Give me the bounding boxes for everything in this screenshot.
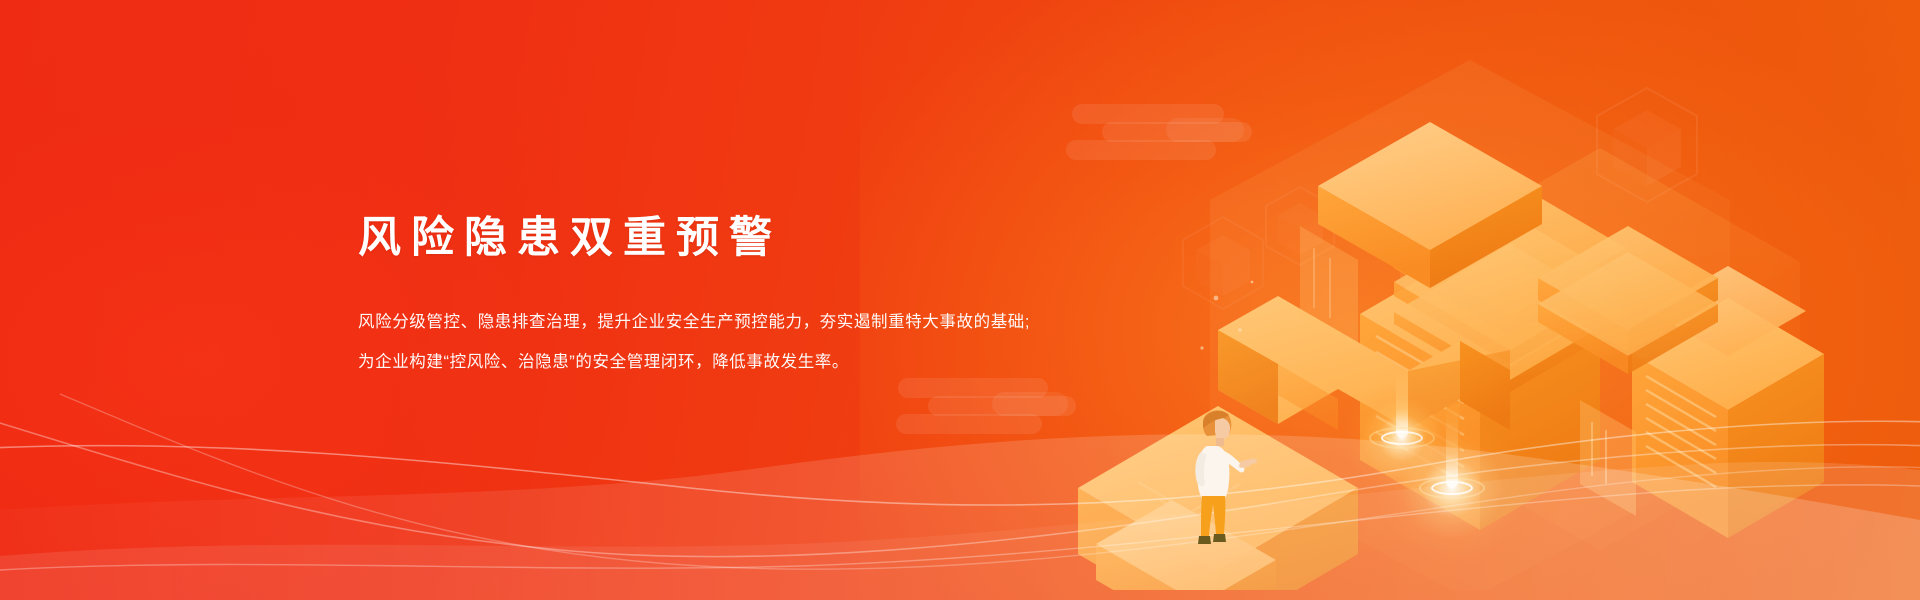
person-shoe-left [1198,536,1211,544]
banner-subtitle: 风险分级管控、隐患排查治理，提升企业安全生产预控能力，夯实遏制重特大事故的基础;… [358,302,1178,382]
subtitle-line-1: 风险分级管控、隐患排查治理，提升企业安全生产预控能力，夯实遏制重特大事故的基础; [358,302,1178,342]
person-pants [1201,496,1225,536]
banner-copy: 风险隐患双重预警 风险分级管控、隐患排查治理，提升企业安全生产预控能力，夯实遏制… [358,214,1178,382]
promo-banner: 风险隐患双重预警 风险分级管控、隐患排查治理，提升企业安全生产预控能力，夯实遏制… [0,0,1920,600]
subtitle-line-2: 为企业构建“控风险、治隐患”的安全管理闭环，降低事故发生率。 [358,342,1178,382]
person-shoe-right [1213,534,1226,542]
page-title: 风险隐患双重预警 [358,214,1178,264]
person-illustration [1185,402,1265,554]
